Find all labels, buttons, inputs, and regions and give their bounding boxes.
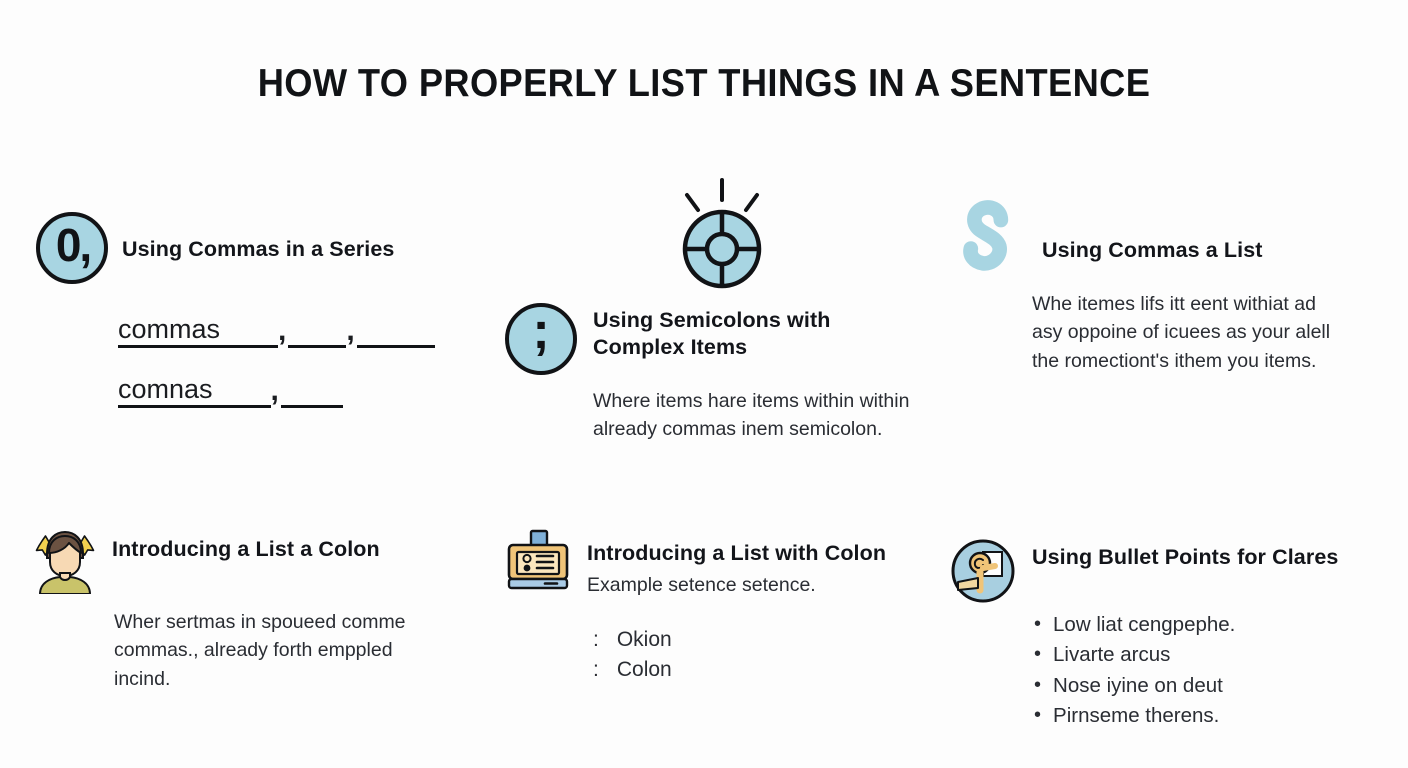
panel-title-list-colon: Introducing a List with Colon: [587, 540, 886, 567]
panel-header: 0, Using Commas in a Series: [36, 212, 456, 284]
blank-line-row: comnas ,: [118, 374, 456, 408]
panel-commas-in-a-series: 0, Using Commas in a Series commas , , c…: [36, 212, 456, 434]
bullet-dot-icon: •: [1034, 610, 1041, 640]
panel-header: Introducing a List with Colon Example se…: [505, 528, 935, 599]
bullet-item-label: Low liat cengpephe.: [1053, 610, 1235, 640]
panel-introducing-list-with-colon: Introducing a List with Colon Example se…: [505, 528, 935, 685]
s-curve-icon: [950, 200, 1024, 274]
s-curve-svg: [950, 200, 1024, 274]
id-badge-svg: [505, 528, 571, 594]
bullet-list-item: • Nose iyine on deut: [1034, 671, 1370, 701]
panel-introducing-a-list-colon: Introducing a List a Colon Wher sertmas …: [32, 528, 452, 693]
bullet-item-label: Pirnseme therens.: [1053, 701, 1219, 731]
panel-header: ; Using Semicolons with Complex Items: [505, 303, 925, 375]
bullet-list-item: • Livarte arcus: [1034, 640, 1370, 670]
id-badge-icon: [505, 528, 571, 594]
blank-line-row: commas , ,: [118, 314, 456, 348]
panel-body-list-colon: Example setence setence.: [587, 571, 886, 599]
comma-circle-icon: 0,: [36, 212, 108, 284]
colon-item-list: : Okion : Colon: [505, 625, 935, 685]
semicolon-circle-icon: ;: [505, 303, 577, 375]
panel-title-intro-colon: Introducing a List a Colon: [112, 528, 380, 563]
person-avatar-svg: [32, 528, 98, 594]
panel-body-semicolons: Where items hare items within within alr…: [505, 387, 925, 444]
comma-circle-shape: 0,: [36, 212, 108, 284]
bullet-list-item: • Low liat cengpephe.: [1034, 610, 1370, 640]
bullet-list-item: • Pirnseme therens.: [1034, 701, 1370, 731]
panel-title-commas-series: Using Commas in a Series: [122, 234, 394, 263]
lightbulb-idea-icon: [663, 176, 781, 294]
panel-using-semicolons: ; Using Semicolons with Complex Items Wh…: [505, 303, 925, 444]
comma-circle-glyph: 0,: [56, 222, 90, 268]
panel-body-intro-colon: Wher sertmas in spoueed comme commas., a…: [32, 608, 452, 693]
semicolon-glyph: ;: [532, 305, 549, 357]
panel-title-commas-list: Using Commas a List: [1042, 211, 1263, 264]
bullet-item-label: Livarte arcus: [1053, 640, 1170, 670]
colon-list-item: : Okion: [593, 625, 935, 655]
colon-list-item: : Colon: [593, 655, 935, 685]
comma-separator: ,: [278, 316, 288, 348]
panel-body-commas-list: Whe itemes lifs itt eent withiat ad asy …: [950, 290, 1350, 375]
page-title: HOW TO PROPERLY LIST THINGS IN A SENTENC…: [49, 63, 1358, 106]
person-avatar-icon: [32, 528, 98, 594]
panel-title-semicolons: Using Semicolons with Complex Items: [593, 303, 893, 361]
bullet-item-list: • Low liat cengpephe. • Livarte arcus • …: [950, 610, 1370, 731]
panel-text-block: Introducing a List with Colon Example se…: [587, 528, 886, 599]
comma-separator: ,: [346, 316, 356, 348]
colon-mark: :: [593, 625, 599, 655]
panel-header: Introducing a List a Colon: [32, 528, 452, 594]
colon-item-label: Colon: [617, 655, 672, 685]
panel-header: Using Commas a List: [950, 200, 1350, 274]
comma-blank-lines: commas , , comnas ,: [36, 314, 456, 408]
panel-using-bullet-points: Using Bullet Points for Clares • Low lia…: [950, 538, 1370, 731]
panel-using-commas-a-list: Using Commas a List Whe itemes lifs itt …: [950, 200, 1350, 375]
comma-separator: ,: [271, 376, 281, 408]
colon-mark: :: [593, 655, 599, 685]
panel-title-bullets: Using Bullet Points for Clares: [1032, 538, 1338, 571]
blank-rule: [281, 383, 343, 408]
person-presenting-circle-icon: [950, 538, 1016, 604]
blank-word: comnas: [118, 374, 271, 408]
blank-rule: [288, 323, 346, 348]
blank-rule: [357, 323, 435, 348]
bullet-item-label: Nose iyine on deut: [1053, 671, 1223, 701]
person-presenting-circle-svg: [950, 538, 1016, 604]
bullet-dot-icon: •: [1034, 701, 1041, 731]
semicolon-circle-shape: ;: [505, 303, 577, 375]
colon-item-label: Okion: [617, 625, 672, 655]
bullet-dot-icon: •: [1034, 671, 1041, 701]
bullet-dot-icon: •: [1034, 640, 1041, 670]
blank-word: commas: [118, 314, 278, 348]
panel-header: Using Bullet Points for Clares: [950, 538, 1370, 604]
lightbulb-idea-svg: [663, 176, 781, 294]
